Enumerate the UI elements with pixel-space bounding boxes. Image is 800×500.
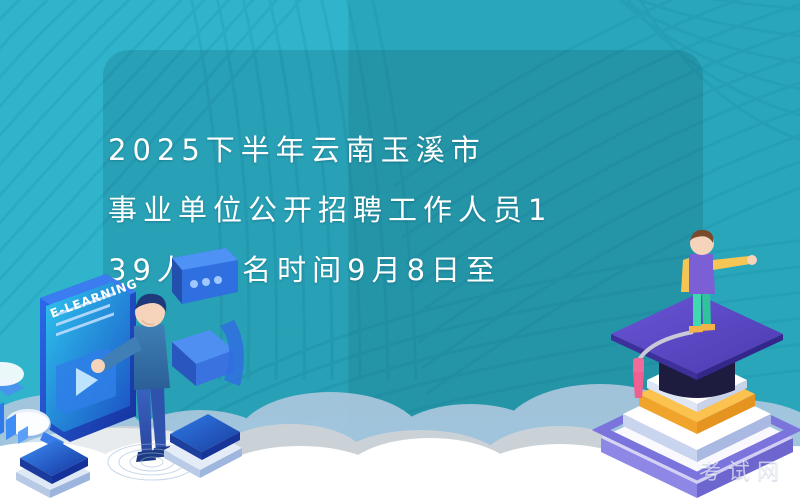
envelope-shape xyxy=(172,330,234,386)
headline-line-1: 2025下半年云南玉溪市 xyxy=(108,120,708,180)
illustration-elearning: E-LEARNING xyxy=(0,200,244,500)
recruitment-banner: 2025下半年云南玉溪市 事业单位公开招聘工作人员1 39人 报名时间9月8日至 xyxy=(0,0,800,500)
chat-bubble-shape xyxy=(172,248,238,304)
illustration-graduation xyxy=(589,230,800,500)
